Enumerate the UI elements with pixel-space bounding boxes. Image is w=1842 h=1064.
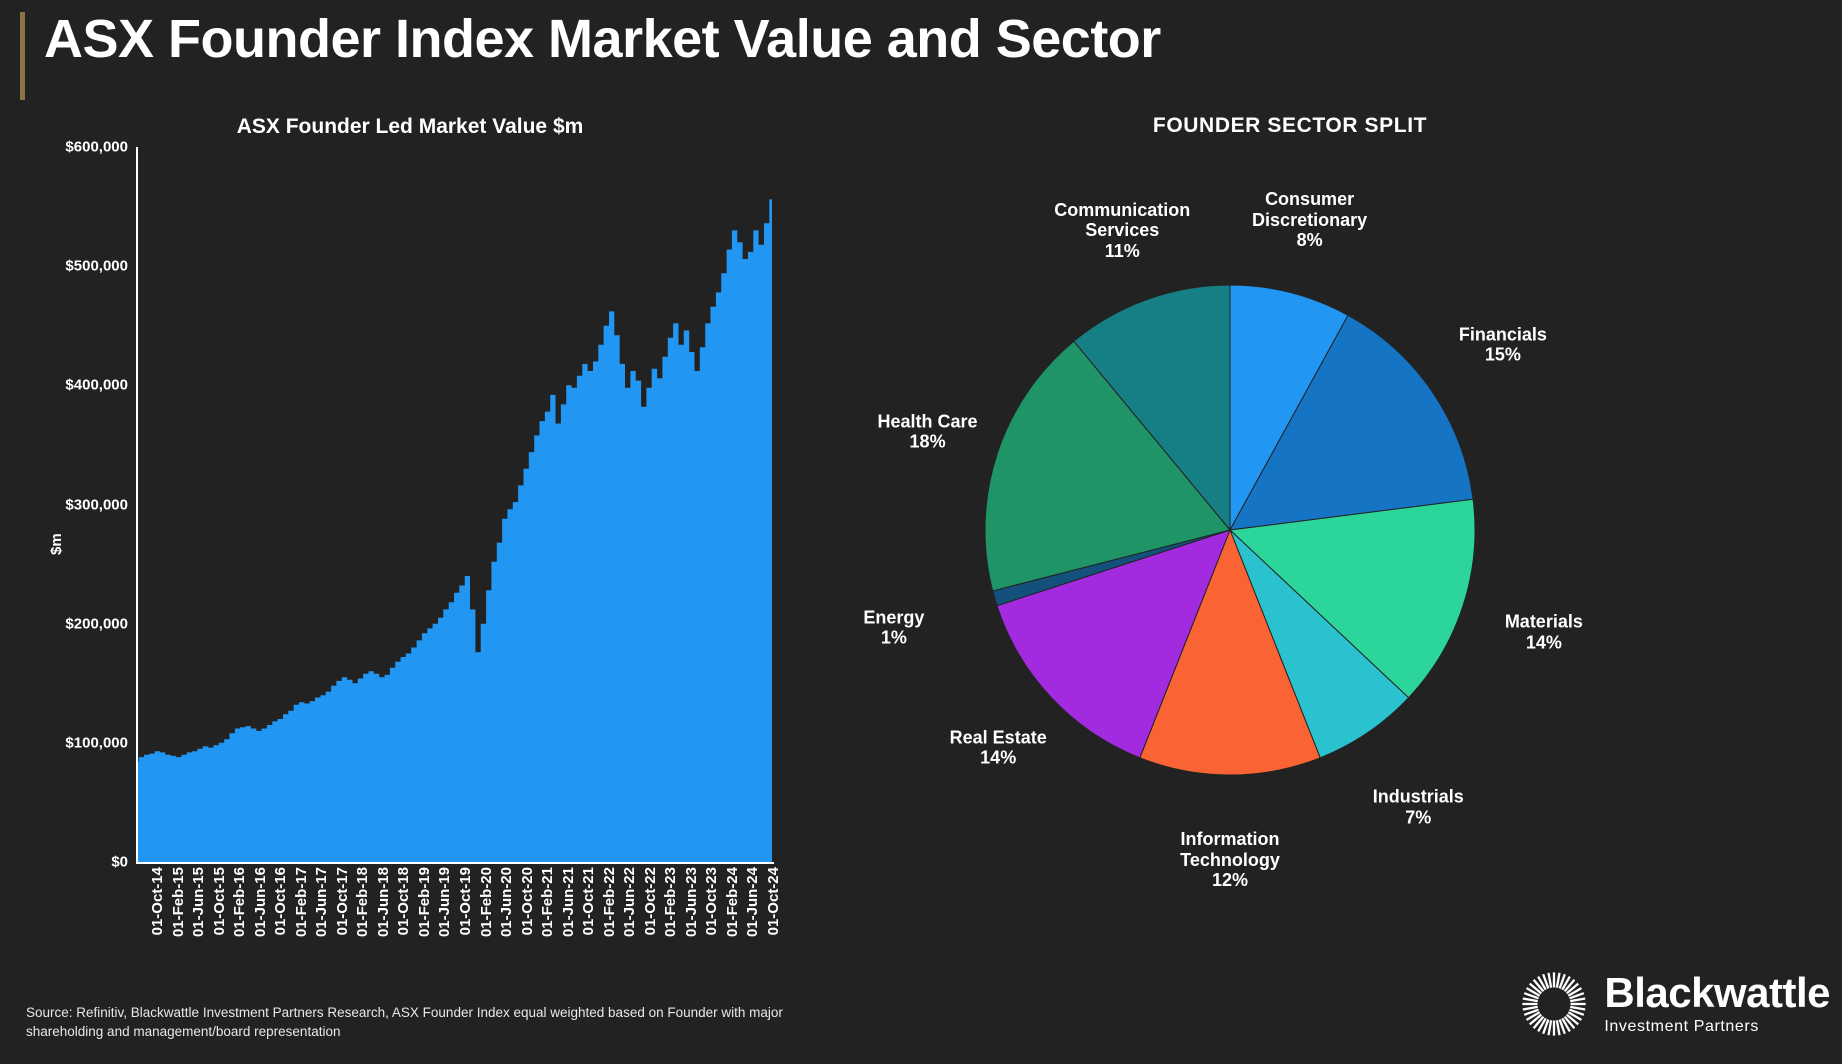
logo-ray	[1557, 1020, 1560, 1035]
x-axis-tick-label: 01-Oct-17	[334, 867, 351, 935]
x-axis-tick-label: 01-Jun-19	[436, 867, 453, 937]
x-axis-tick-label: 01-Feb-17	[293, 867, 310, 937]
x-axis-tick-label: 01-Jun-23	[683, 867, 700, 937]
x-axis-tick-label: 01-Feb-20	[478, 867, 495, 937]
x-axis-tick-label: 01-Jun-24	[744, 867, 761, 937]
x-axis-ticks: 01-Oct-1401-Feb-1501-Jun-1501-Oct-1501-F…	[136, 867, 774, 997]
x-axis-tick-label: 01-Oct-14	[149, 867, 166, 935]
pie-slice-label: Real Estate 14%	[893, 727, 1103, 768]
sector-split-panel: FOUNDER SECTOR SPLIT Consumer Discretion…	[920, 100, 1842, 920]
pie-chart: Consumer Discretionary 8%Financials 15%M…	[920, 150, 1842, 920]
x-axis-tick-label: 01-Jun-17	[313, 867, 330, 937]
logo-ray	[1571, 998, 1586, 1001]
pie-slice-label: Energy 1%	[789, 607, 999, 648]
x-axis-tick-label: 01-Feb-15	[170, 867, 187, 937]
x-axis-tick-label: 01-Feb-22	[601, 867, 618, 937]
blackwattle-logo: Blackwattle Investment Partners	[1518, 968, 1830, 1040]
x-axis-tick-label: 01-Feb-23	[662, 867, 679, 937]
x-axis-tick-label: 01-Feb-21	[539, 867, 556, 937]
x-axis-tick-label: 01-Oct-24	[765, 867, 782, 935]
x-axis-tick-label: 01-Oct-15	[211, 867, 228, 935]
pie-chart-title: FOUNDER SECTOR SPLIT	[920, 114, 1660, 138]
y-axis-tick-label: $0	[18, 854, 128, 871]
source-note: Source: Refinitiv, Blackwattle Investmen…	[26, 1003, 816, 1042]
pie-slice-label: Industrials 7%	[1313, 786, 1523, 827]
page-title: ASX Founder Index Market Value and Secto…	[44, 8, 1161, 70]
page-header: ASX Founder Index Market Value and Secto…	[0, 0, 1842, 110]
pie-slice-label: Information Technology 12%	[1125, 829, 1335, 891]
x-axis-tick-label: 01-Feb-24	[724, 867, 741, 937]
area-series-market-value	[136, 199, 772, 862]
area-plot-svg	[136, 147, 772, 862]
x-axis-tick-label: 01-Oct-20	[519, 867, 536, 935]
y-axis-tick-label: $400,000	[18, 377, 128, 394]
x-axis-tick-label: 01-Jun-16	[252, 867, 269, 937]
x-axis-tick-label: 01-Jun-18	[375, 867, 392, 937]
logo-wordmark: Blackwattle Investment Partners	[1604, 972, 1830, 1036]
y-axis-tick-label: $300,000	[18, 496, 128, 513]
area-plot	[136, 147, 772, 862]
pie-slice-label: Consumer Discretionary 8%	[1205, 189, 1415, 251]
x-axis-tick-label: 01-Oct-23	[703, 867, 720, 935]
x-axis-tick-label: 01-Oct-21	[580, 867, 597, 935]
y-axis-line	[136, 147, 138, 862]
x-axis-tick-label: 01-Jun-20	[498, 867, 515, 937]
pie-slice-label: Communication Services 11%	[1017, 200, 1227, 262]
y-axis-tick-label: $100,000	[18, 734, 128, 751]
y-axis-tick-label: $600,000	[18, 139, 128, 156]
logo-ray	[1523, 1007, 1538, 1010]
market-value-chart-panel: ASX Founder Led Market Value $m $0$100,0…	[0, 105, 920, 905]
logo-ray	[1557, 973, 1560, 988]
pie-slice-label: Financials 15%	[1398, 324, 1608, 365]
logo-ray	[1571, 1007, 1586, 1010]
area-chart-title: ASX Founder Led Market Value $m	[0, 115, 820, 139]
pie-slice-label: Materials 14%	[1439, 611, 1649, 652]
sunburst-logo-icon	[1518, 968, 1590, 1040]
logo-ray	[1549, 1020, 1552, 1035]
x-axis-tick-label: 01-Feb-16	[231, 867, 248, 937]
title-accent-rule	[20, 12, 25, 100]
x-axis-tick-label: 01-Jun-15	[190, 867, 207, 937]
x-axis-tick-label: 01-Feb-19	[416, 867, 433, 937]
logo-tagline: Investment Partners	[1604, 1018, 1830, 1036]
x-axis-tick-label: 01-Jun-21	[560, 867, 577, 937]
pie-slice-label: Health Care 18%	[823, 411, 1033, 452]
x-axis-tick-label: 01-Oct-18	[395, 867, 412, 935]
y-axis-tick-label: $200,000	[18, 615, 128, 632]
x-axis-tick-label: 01-Oct-19	[457, 867, 474, 935]
y-axis-ticks: $0$100,000$200,000$300,000$400,000$500,0…	[0, 147, 128, 862]
x-axis-tick-label: 01-Jun-22	[621, 867, 638, 937]
y-axis-tick-label: $500,000	[18, 258, 128, 275]
logo-ray	[1549, 973, 1552, 988]
x-axis-line	[136, 862, 774, 864]
x-axis-tick-label: 01-Feb-18	[354, 867, 371, 937]
x-axis-tick-label: 01-Oct-22	[642, 867, 659, 935]
x-axis-tick-label: 01-Oct-16	[272, 867, 289, 935]
logo-ray	[1523, 998, 1538, 1001]
logo-company-name: Blackwattle	[1604, 972, 1830, 1014]
y-axis-title: $m	[48, 533, 65, 555]
